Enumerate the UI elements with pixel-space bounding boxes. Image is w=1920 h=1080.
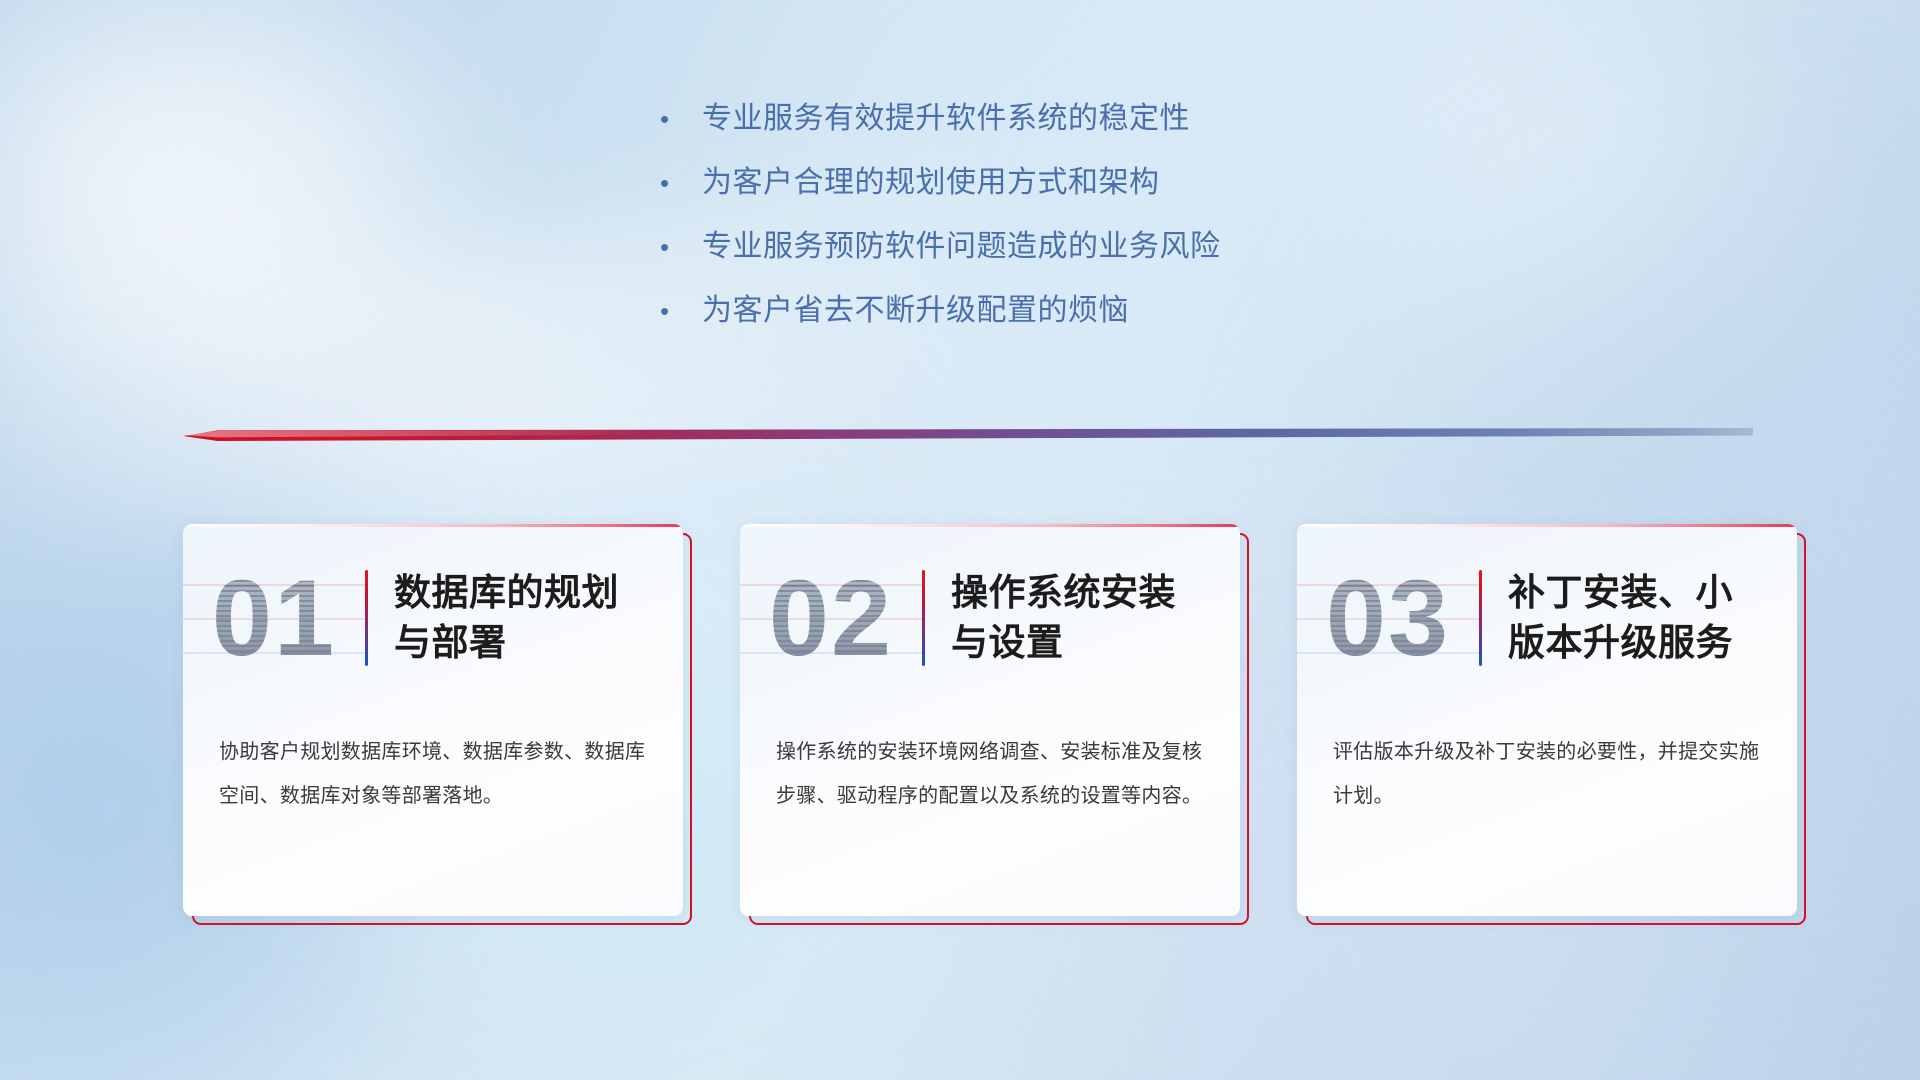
card-title-line-1: 数据库的规划 [394, 568, 667, 618]
service-card-02[interactable]: 02 操作系统安装 与设置 操作系统的安装环境网络调查、安装标准及复核步骤、驱动… [740, 524, 1240, 916]
card-number-badge: 01 [183, 524, 365, 712]
card-surface: 03 补丁安装、小 版本升级服务 评估版本升级及补丁安装的必要性，并提交实施计划… [1297, 524, 1797, 916]
card-header: 01 数据库的规划 与部署 [183, 524, 683, 712]
card-title-divider [1479, 570, 1482, 666]
card-title-line-2: 与部署 [394, 618, 667, 668]
card-title-line-2: 与设置 [951, 618, 1224, 668]
card-title: 补丁安装、小 版本升级服务 [1508, 568, 1797, 668]
bullet-text: 为客户合理的规划使用方式和架构 [702, 166, 1160, 200]
card-title-divider [922, 570, 925, 666]
card-title-divider [365, 570, 368, 666]
card-surface: 02 操作系统安装 与设置 操作系统的安装环境网络调查、安装标准及复核步骤、驱动… [740, 524, 1240, 916]
list-item: • 专业服务预防软件问题造成的业务风险 [660, 230, 1221, 264]
card-body-text: 协助客户规划数据库环境、数据库参数、数据库空间、数据库对象等部署落地。 [219, 730, 653, 818]
bullet-dot-icon: • [660, 230, 678, 264]
bullet-text: 专业服务有效提升软件系统的稳定性 [702, 102, 1190, 136]
card-title-line-1: 补丁安装、小 [1508, 568, 1781, 618]
card-number-text: 03 [1326, 564, 1450, 672]
service-card-03[interactable]: 03 补丁安装、小 版本升级服务 评估版本升级及补丁安装的必要性，并提交实施计划… [1297, 524, 1797, 916]
service-card-01[interactable]: 01 数据库的规划 与部署 协助客户规划数据库环境、数据库参数、数据库空间、数据… [183, 524, 683, 916]
card-title: 操作系统安装 与设置 [951, 568, 1240, 668]
card-number-badge: 02 [740, 524, 922, 712]
bullet-text: 专业服务预防软件问题造成的业务风险 [702, 230, 1221, 264]
service-card-group: 01 数据库的规划 与部署 协助客户规划数据库环境、数据库参数、数据库空间、数据… [183, 524, 1797, 916]
card-header: 03 补丁安装、小 版本升级服务 [1297, 524, 1797, 712]
card-surface: 01 数据库的规划 与部署 协助客户规划数据库环境、数据库参数、数据库空间、数据… [183, 524, 683, 916]
list-item: • 专业服务有效提升软件系统的稳定性 [660, 102, 1221, 136]
bullet-dot-icon: • [660, 294, 678, 328]
card-title-line-1: 操作系统安装 [951, 568, 1224, 618]
section-divider [183, 428, 1753, 441]
card-number-text: 01 [212, 564, 336, 672]
card-title-line-2: 版本升级服务 [1508, 618, 1781, 668]
benefits-bullet-list: • 专业服务有效提升软件系统的稳定性 • 为客户合理的规划使用方式和架构 • 专… [660, 102, 1221, 358]
bullet-dot-icon: • [660, 102, 678, 136]
card-body-text: 操作系统的安装环境网络调查、安装标准及复核步骤、驱动程序的配置以及系统的设置等内… [776, 730, 1210, 818]
card-title: 数据库的规划 与部署 [394, 568, 683, 668]
card-header: 02 操作系统安装 与设置 [740, 524, 1240, 712]
card-body-text: 评估版本升级及补丁安装的必要性，并提交实施计划。 [1333, 730, 1767, 818]
list-item: • 为客户省去不断升级配置的烦恼 [660, 294, 1221, 328]
card-number-text: 02 [769, 564, 893, 672]
bullet-dot-icon: • [660, 166, 678, 200]
card-number-badge: 03 [1297, 524, 1479, 712]
bullet-text: 为客户省去不断升级配置的烦恼 [702, 294, 1129, 328]
list-item: • 为客户合理的规划使用方式和架构 [660, 166, 1221, 200]
